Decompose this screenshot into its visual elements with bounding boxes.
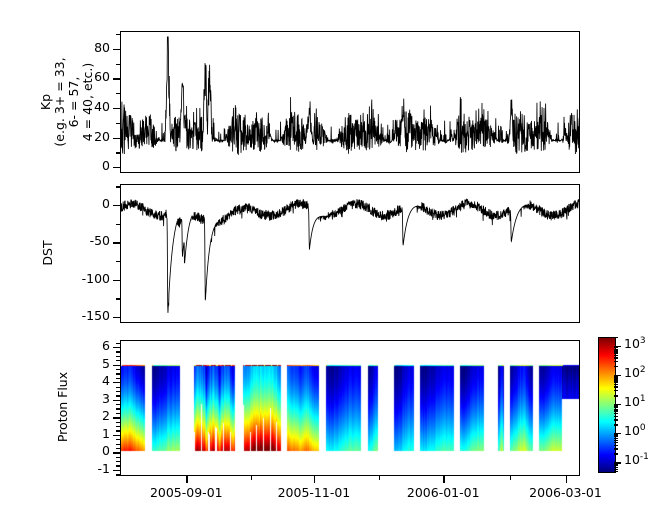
kp-axis-label-line-3: 4 = 40, etc.) (81, 27, 95, 177)
kp-ytick-minor (116, 64, 120, 65)
colorbar-tick-minor (614, 448, 618, 449)
proton-flux-ytick-label: 2 (74, 408, 110, 423)
colorbar-tick-minor (614, 352, 618, 353)
proton-flux-ytick-label: 6 (74, 338, 110, 353)
proton-flux-ytick-minor (116, 408, 120, 409)
kp-ytick-major (113, 78, 120, 79)
colorbar-tick-minor (614, 424, 618, 425)
proton-flux-ytick-minor (116, 461, 120, 462)
proton-flux-ytick-minor (116, 404, 120, 405)
colorbar-tick-minor (614, 361, 618, 362)
colorbar-tick-minor (614, 355, 618, 356)
proton-flux-ytick-minor (116, 430, 120, 431)
colorbar-tick-minor (614, 376, 618, 377)
proton-flux-ytick-label: 5 (74, 356, 110, 371)
proton-flux-ytick-minor (116, 351, 120, 352)
proton-flux-ytick-minor (116, 426, 120, 427)
x-tick-label: 2005-11-01 (264, 485, 364, 500)
colorbar-tick-minor (614, 442, 618, 443)
colorbar-tick-minor (614, 440, 618, 441)
colorbar-tick-label: 100 (624, 423, 646, 438)
colorbar-tick-minor (614, 386, 618, 387)
x-tick-major (186, 476, 187, 483)
x-tick-minor (510, 476, 511, 480)
colorbar-tick-minor (614, 350, 618, 351)
proton-flux-ytick-minor (116, 378, 120, 379)
colorbar-tick-minor (614, 445, 618, 446)
colorbar-tick-label: 103 (624, 336, 646, 351)
proton-flux-ytick-major (113, 452, 120, 453)
proton-flux-ytick-major (113, 382, 120, 383)
colorbar-tick-label: 10-1 (624, 452, 649, 467)
proton-flux-ytick-label: 4 (74, 373, 110, 388)
colorbar-tick-minor (614, 434, 618, 435)
proton-flux-ytick-minor (116, 413, 120, 414)
colorbar-tick-minor (614, 416, 618, 417)
proton-flux-ytick-minor (116, 474, 120, 475)
x-tick-label: 2005-09-01 (136, 485, 236, 500)
kp-trace-line (120, 31, 580, 173)
proton-flux-ytick-minor (116, 422, 120, 423)
figure-root: 020406080 Kp(e.g. 3+ = 33,6- = 57,4 = 40… (0, 0, 665, 523)
proton-flux-ytick-major (113, 470, 120, 471)
dst-trace-line (120, 184, 580, 323)
dst-ytick-label: 0 (64, 196, 110, 211)
colorbar-tick-minor (614, 464, 618, 465)
dst-ytick-label: -150 (64, 308, 110, 323)
colorbar-tick-minor (614, 379, 618, 380)
kp-axis-label-line-2: 6- = 57, (67, 27, 81, 177)
dst-ytick-major (113, 317, 120, 318)
proton-flux-ytick-label: 1 (74, 426, 110, 441)
proton-flux-ytick-minor (116, 356, 120, 357)
colorbar-tick-minor (614, 405, 618, 406)
colorbar-tick-minor (614, 436, 618, 437)
proton-flux-ytick-minor (116, 391, 120, 392)
proton-flux-ytick-major (113, 435, 120, 436)
proton-flux-ytick-major (113, 365, 120, 366)
colorbar-tick-minor (614, 347, 618, 348)
colorbar-tick-minor (614, 390, 618, 391)
proton-flux-ytick-major (113, 417, 120, 418)
x-tick-major (443, 476, 444, 483)
x-tick-major (566, 476, 567, 483)
kp-ytick-major (113, 138, 120, 139)
proton-flux-ytick-label: -1 (74, 461, 110, 476)
dst-ytick-minor (116, 224, 120, 225)
kp-ytick-minor (116, 93, 120, 94)
colorbar-tick-label: 101 (624, 394, 646, 409)
x-tick-major (314, 476, 315, 483)
dst-ytick-label: -100 (64, 271, 110, 286)
kp-polyline (120, 37, 580, 155)
proton-flux-ytick-label: 0 (74, 443, 110, 458)
colorbar-tick-minor (614, 381, 618, 382)
dst-ytick-minor (116, 261, 120, 262)
proton-flux-axis-label: Proton Flux (56, 357, 70, 457)
proton-flux-ytick-minor (116, 373, 120, 374)
proton-flux-ytick-major (113, 347, 120, 348)
proton-flux-ytick-minor (116, 448, 120, 449)
dst-ytick-label: -50 (64, 233, 110, 248)
colorbar-tick-label: 102 (624, 365, 646, 380)
proton-flux-ytick-minor (116, 444, 120, 445)
proton-flux-ytick-minor (116, 387, 120, 388)
kp-ytick-minor (116, 123, 120, 124)
x-tick-label: 2006-03-01 (516, 485, 616, 500)
colorbar-tick-minor (614, 409, 618, 410)
colorbar-tick-minor (614, 407, 618, 408)
colorbar-tick-minor (614, 469, 618, 470)
kp-ytick-major (113, 167, 120, 168)
kp-axis-label-line-1: (e.g. 3+ = 33, (53, 27, 67, 177)
proton-flux-ytick-minor (116, 457, 120, 458)
proton-flux-ytick-minor (116, 439, 120, 440)
dst-ytick-major (113, 242, 120, 243)
kp-ytick-minor (116, 152, 120, 153)
colorbar-tick-minor (614, 419, 618, 420)
proton-flux-ytick-minor (116, 369, 120, 370)
proton-flux-ytick-minor (116, 465, 120, 466)
colorbar-tick-minor (614, 384, 618, 385)
kp-axis-label: Kp(e.g. 3+ = 33,6- = 57,4 = 40, etc.) (39, 27, 95, 177)
colorbar-tick-minor (614, 410, 618, 411)
x-tick-minor (379, 476, 380, 480)
colorbar-tick-minor (614, 471, 618, 472)
x-tick-label: 2006-01-01 (393, 485, 493, 500)
dst-ytick-minor (116, 298, 120, 299)
colorbar-tick-minor (614, 357, 618, 358)
colorbar-tick-minor (614, 465, 618, 466)
dst-polyline (120, 199, 580, 313)
colorbar-tick-minor (614, 467, 618, 468)
dst-ytick-major (113, 280, 120, 281)
kp-ytick-major (113, 108, 120, 109)
colorbar-tick-minor (614, 349, 618, 350)
dst-ytick-major (113, 205, 120, 206)
proton-flux-ytick-minor (116, 395, 120, 396)
colorbar-tick-minor (614, 453, 618, 454)
colorbar-tick-minor (614, 366, 618, 367)
colorbar-tick-minor (614, 337, 618, 338)
colorbar-tick-minor (614, 378, 618, 379)
proton-flux-heatmap (121, 341, 579, 475)
colorbar-tick-minor (614, 438, 618, 439)
proton-flux-ytick-minor (116, 360, 120, 361)
kp-ytick-minor (116, 34, 120, 35)
kp-axis-label-line-0: Kp (39, 27, 53, 177)
dst-ytick-minor (116, 186, 120, 187)
dst-axis-label: DST (41, 223, 55, 283)
colorbar-tick-minor (614, 413, 618, 414)
colorbar-tick-minor (614, 395, 618, 396)
x-tick-minor (251, 476, 252, 480)
proton-flux-ytick-major (113, 400, 120, 401)
kp-ytick-major (113, 49, 120, 50)
proton-flux-ytick-minor (116, 343, 120, 344)
proton-flux-ytick-label: 3 (74, 391, 110, 406)
